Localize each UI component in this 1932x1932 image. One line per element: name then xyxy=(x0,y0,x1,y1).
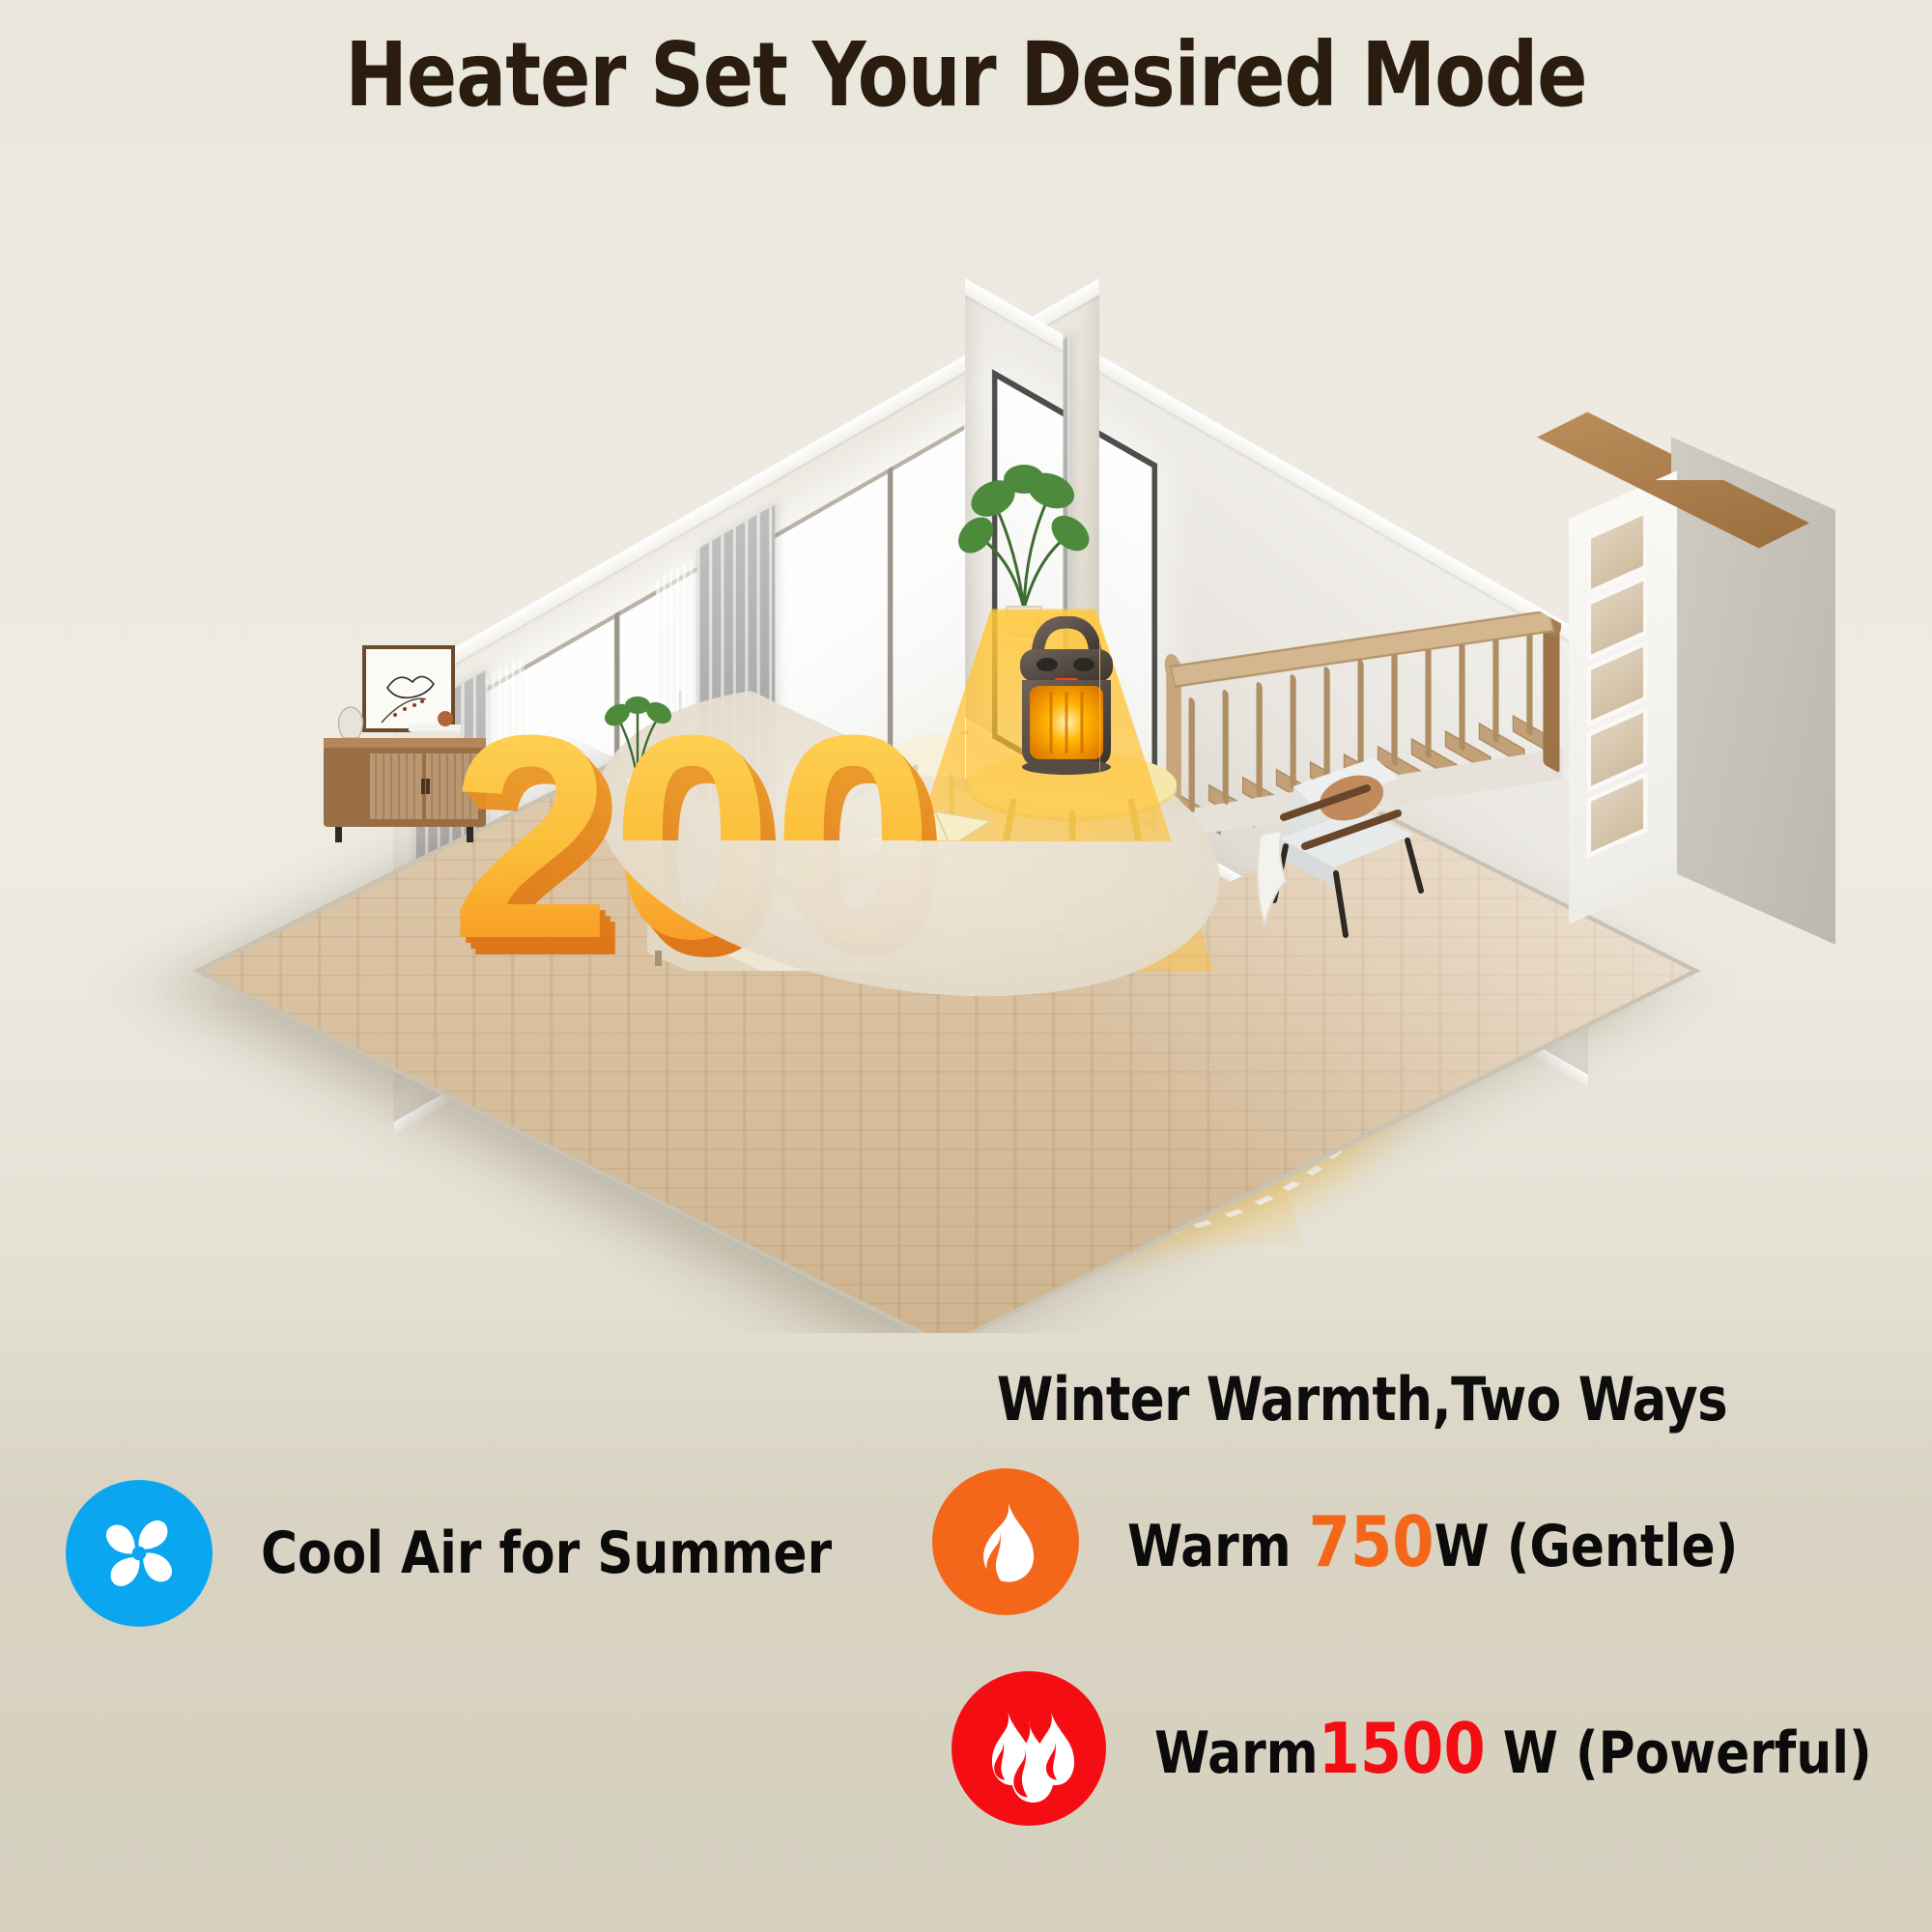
warm-1500-unit: W xyxy=(1503,1719,1558,1787)
feature-list: Winter Warmth,Two Ways Cool Air for Summ… xyxy=(0,1333,1932,1932)
niche-bookshelf xyxy=(1569,470,1677,924)
triple-flame-icon-badge xyxy=(952,1671,1106,1826)
warm-750-value: 750 xyxy=(1309,1501,1435,1582)
feature-label-cool-air: Cool Air for Summer xyxy=(261,1520,832,1587)
warm-750-unit: W xyxy=(1434,1513,1489,1580)
room-scene: 200 200 200 200 sq.ft sq.ft sq.ft sq.ft xyxy=(0,116,1932,1333)
warm-1500-prefix: Warm xyxy=(1154,1719,1319,1787)
monstera-plant xyxy=(956,444,1092,638)
feature-label-warm-750: Warm 750W (Gentle) xyxy=(1127,1501,1738,1582)
warm-750-suffix: (Gentle) xyxy=(1507,1513,1739,1580)
isometric-room: 200 200 200 200 sq.ft sq.ft sq.ft sq.ft xyxy=(241,155,1690,1179)
page-title-bar: Heater Set Your Desired Mode xyxy=(0,23,1932,127)
mid-century-armchair xyxy=(1251,746,1444,949)
ceramic-vase xyxy=(339,707,363,738)
winter-warmth-heading-text: Winter Warmth,Two Ways xyxy=(997,1364,1727,1435)
single-flame-icon-badge xyxy=(932,1468,1079,1615)
warm-1500-suffix: (Powerful) xyxy=(1576,1719,1872,1787)
fan-icon-badge xyxy=(66,1480,213,1627)
triple-flame-icon xyxy=(975,1694,1083,1803)
feature-row-cool-air[interactable]: Cool Air for Summer xyxy=(66,1480,856,1627)
plant-svg xyxy=(956,444,1092,638)
single-flame-icon xyxy=(955,1492,1056,1592)
feature-row-warm-1500[interactable]: Warm1500 W (Powerful) xyxy=(952,1671,1902,1826)
feature-label-warm-1500: Warm1500 W (Powerful) xyxy=(1154,1708,1872,1789)
warm-1500-value: 1500 xyxy=(1319,1708,1486,1789)
winter-warmth-heading: Winter Warmth,Two Ways xyxy=(927,1364,1797,1435)
page-title: Heater Set Your Desired Mode xyxy=(68,23,1864,127)
feature-row-warm-750[interactable]: Warm 750W (Gentle) xyxy=(932,1468,1764,1615)
fan-icon xyxy=(89,1503,189,1604)
armchair-svg xyxy=(1251,746,1444,949)
warm-750-prefix: Warm xyxy=(1127,1513,1292,1580)
